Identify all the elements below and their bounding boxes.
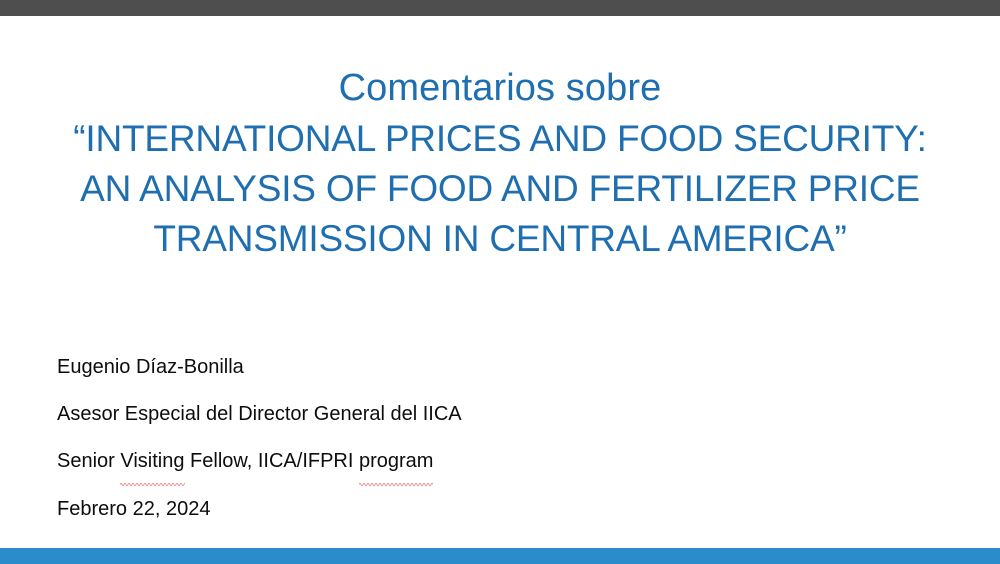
spellcheck-flagged-word-visiting: Visiting — [120, 438, 184, 486]
presentation-slide: Comentarios sobre “INTERNATIONAL PRICES … — [0, 0, 1000, 564]
affiliation-prefix-text: Senior — [57, 450, 120, 472]
author-role: Asesor Especial del Director General del… — [57, 391, 917, 438]
author-name: Eugenio Díaz-Bonilla — [57, 344, 917, 391]
title-line-paper-name-1: “INTERNATIONAL PRICES AND FOOD SECURITY: — [40, 114, 960, 164]
title-line-paper-name-3: TRANSMISSION IN CENTRAL AMERICA” — [40, 214, 960, 264]
presentation-date: Febrero 22, 2024 — [57, 486, 917, 533]
slide-author-block: Eugenio Díaz-Bonilla Asesor Especial del… — [57, 344, 917, 533]
author-affiliation: Senior Visiting Fellow, IICA/IFPRI progr… — [57, 438, 917, 486]
title-line-paper-name-2: AN ANALYSIS OF FOOD AND FERTILIZER PRICE — [40, 164, 960, 214]
slide-top-accent-bar — [0, 0, 1000, 16]
title-line-subtitle: Comentarios sobre — [40, 62, 960, 114]
slide-bottom-accent-bar — [0, 548, 1000, 564]
affiliation-middle-text: Fellow, IICA/IFPRI — [185, 450, 359, 472]
slide-title-block: Comentarios sobre “INTERNATIONAL PRICES … — [40, 62, 960, 264]
spellcheck-flagged-word-program: program — [359, 438, 433, 486]
